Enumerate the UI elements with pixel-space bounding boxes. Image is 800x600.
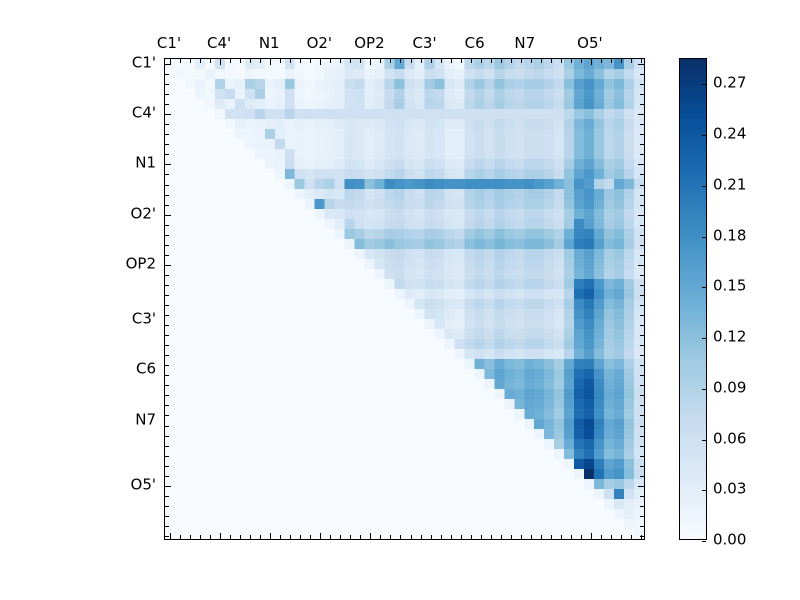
y-tick [165,74,169,75]
colorbar-tick-label: 0.21 [713,177,746,192]
y-tick [640,104,644,105]
x-tick [561,59,562,63]
x-tick [591,59,592,65]
y-tick [165,365,169,366]
x-tick [230,59,231,63]
y-tick [640,174,644,175]
colorbar-tick [702,237,706,238]
x-tick [280,535,281,539]
y-tick [165,275,169,276]
x-tick [431,59,432,63]
x-tick [220,59,221,65]
x-tick [421,535,422,539]
x-tick [310,535,311,539]
y-tick [165,124,169,125]
y-tick [165,355,169,356]
y-tick [640,315,644,316]
x-tick [400,535,401,539]
x-tick [621,535,622,539]
y-tick [165,225,169,226]
x-tick [491,535,492,539]
x-tick [581,59,582,63]
x-tick [200,535,201,539]
x-tick [230,535,231,539]
x-tick-label: C4' [207,36,231,51]
y-tick [640,476,644,477]
x-tick [551,59,552,63]
y-tick [165,255,169,256]
y-tick [165,235,169,236]
heatmap-plot-area[interactable] [164,58,645,540]
x-tick [340,59,341,63]
x-tick [360,535,361,539]
y-tick [640,385,644,386]
colorbar-tick [702,135,706,136]
y-tick [640,74,644,75]
y-tick [165,436,169,437]
x-tick [471,59,472,63]
y-tick [640,205,644,206]
x-tick [370,59,371,65]
x-tick [501,59,502,63]
x-tick [471,535,472,539]
x-tick [300,59,301,63]
x-tick-label: O5' [577,36,602,51]
x-tick [280,59,281,63]
y-tick [165,265,171,266]
x-tick [350,59,351,63]
colorbar-tick [702,84,706,85]
y-tick [640,235,644,236]
y-tick [638,486,644,487]
x-tick [390,59,391,63]
x-tick [531,59,532,63]
y-tick-label: O2' [106,206,156,221]
heatmap-image [165,59,644,539]
x-tick [340,535,341,539]
y-tick [165,285,169,286]
y-tick-label: C1' [106,56,156,71]
y-tick [640,365,644,366]
y-tick [640,195,644,196]
x-tick [541,535,542,539]
x-tick [441,535,442,539]
y-tick [640,426,644,427]
y-tick [165,144,169,145]
x-tick [531,535,532,539]
y-tick [640,225,644,226]
x-tick [501,535,502,539]
colorbar-tick-label: 0.24 [713,127,746,142]
y-tick [165,134,169,135]
y-tick [165,516,169,517]
x-tick [581,535,582,539]
x-tick-label: C6 [465,36,485,51]
y-tick-label: N7 [106,412,156,427]
colorbar-tick-label: 0.00 [713,533,746,548]
colorbar-tick-label: 0.15 [713,279,746,294]
y-tick [640,456,644,457]
y-tick [640,84,644,85]
y-tick [165,94,169,95]
y-tick [640,506,644,507]
y-tick [165,526,169,527]
colorbar-gradient [680,59,706,539]
y-tick [640,154,644,155]
x-tick [451,535,452,539]
y-tick [640,325,644,326]
y-tick [640,275,644,276]
x-tick [330,59,331,63]
x-tick [521,59,522,63]
x-tick [240,59,241,63]
x-tick [370,533,371,539]
x-tick [641,59,642,63]
x-tick [511,535,512,539]
colorbar[interactable] [679,58,707,540]
colorbar-tick-label: 0.09 [713,380,746,395]
x-tick-label: C1' [157,36,181,51]
y-tick [165,385,169,386]
x-tick [210,535,211,539]
x-tick [571,535,572,539]
y-tick [165,536,169,537]
x-tick [380,59,381,63]
y-tick [165,456,169,457]
colorbar-tick [702,440,706,441]
y-tick-label: C4' [106,106,156,121]
y-tick [165,174,169,175]
figure-canvas: C1'C4'N1O2'OP2C3'C6N7O5' C1'C4'N1O2'OP2C… [0,0,800,600]
x-tick [270,59,271,65]
y-tick [165,446,169,447]
y-tick [165,415,169,416]
x-tick [330,535,331,539]
x-tick [431,535,432,539]
x-tick [270,533,271,539]
y-tick [165,506,169,507]
y-tick [165,496,169,497]
y-tick [165,295,169,296]
colorbar-tick [702,389,706,390]
y-tick-label: O5' [106,477,156,492]
y-tick [165,335,169,336]
y-tick [165,245,169,246]
y-tick [165,395,169,396]
y-tick [165,466,169,467]
x-tick [180,535,181,539]
x-tick [561,535,562,539]
y-tick [638,215,644,216]
colorbar-tick [702,338,706,339]
y-tick [640,285,644,286]
x-tick [411,59,412,63]
x-tick [631,535,632,539]
y-tick [640,446,644,447]
x-tick [350,535,351,539]
x-tick [390,535,391,539]
y-tick [165,84,169,85]
y-tick [640,415,644,416]
y-tick [165,476,169,477]
x-tick [220,533,221,539]
y-tick [165,305,169,306]
x-tick [521,535,522,539]
x-tick [310,59,311,63]
x-tick [260,535,261,539]
x-tick [190,59,191,63]
x-tick-label: OP2 [354,36,384,51]
y-tick [640,124,644,125]
y-tick-label: C3' [106,312,156,327]
x-tick [441,59,442,63]
y-tick [165,345,169,346]
y-tick [165,405,169,406]
y-tick [640,185,644,186]
colorbar-tick-label: 0.06 [713,431,746,446]
x-tick [451,59,452,63]
x-tick [491,59,492,63]
y-tick [640,305,644,306]
x-tick [621,59,622,63]
x-tick [180,59,181,63]
x-tick [210,59,211,63]
colorbar-tick [702,287,706,288]
x-tick [380,535,381,539]
y-tick [640,516,644,517]
y-tick-label: C6 [106,362,156,377]
x-tick-label: C3' [412,36,436,51]
x-tick [601,59,602,63]
y-tick [640,466,644,467]
x-tick [260,59,261,63]
x-tick [360,59,361,63]
x-tick [571,59,572,63]
x-tick [320,533,321,539]
x-tick [290,535,291,539]
colorbar-tick-label: 0.12 [713,330,746,345]
colorbar-tick-label: 0.18 [713,228,746,243]
y-tick [165,486,171,487]
y-tick [165,195,169,196]
x-tick [200,59,201,63]
y-tick-label: N1 [106,156,156,171]
colorbar-tick-label: 0.03 [713,482,746,497]
y-tick [165,315,169,316]
x-tick [611,535,612,539]
x-tick [611,59,612,63]
x-tick-label: N7 [514,36,535,51]
x-tick [320,59,321,65]
y-tick [640,405,644,406]
y-tick [640,245,644,246]
x-tick [240,535,241,539]
x-tick-label: O2' [307,36,332,51]
y-tick [640,94,644,95]
y-tick [640,295,644,296]
x-tick [541,59,542,63]
y-tick [640,144,644,145]
y-tick [638,64,644,65]
y-tick [640,496,644,497]
y-tick [165,185,169,186]
x-tick-label: N1 [259,36,280,51]
x-tick [481,59,482,63]
x-tick [461,535,462,539]
y-tick [165,325,169,326]
y-tick [165,426,169,427]
y-tick [638,164,644,165]
x-tick [551,535,552,539]
colorbar-tick [702,490,706,491]
x-tick [601,535,602,539]
x-tick [400,59,401,63]
y-tick [640,255,644,256]
colorbar-tick [702,541,706,542]
x-tick [411,535,412,539]
y-tick [640,134,644,135]
y-tick [640,526,644,527]
y-tick [640,536,644,537]
x-tick [250,59,251,63]
y-tick [640,335,644,336]
y-tick [640,395,644,396]
x-tick [461,59,462,63]
y-tick [165,375,169,376]
y-tick [165,164,171,165]
colorbar-tick [702,186,706,187]
y-tick [638,114,644,115]
y-tick [165,215,171,216]
x-tick [511,59,512,63]
colorbar-tick-label: 0.27 [713,76,746,91]
x-tick [250,535,251,539]
y-tick [640,375,644,376]
y-tick [640,345,644,346]
x-tick [300,535,301,539]
x-tick [631,59,632,63]
x-tick [190,535,191,539]
y-tick [640,355,644,356]
y-tick-label: OP2 [106,256,156,271]
x-tick [421,59,422,63]
y-tick [165,205,169,206]
y-tick [638,265,644,266]
x-tick [591,533,592,539]
y-tick [640,436,644,437]
x-tick [290,59,291,63]
y-tick [165,104,169,105]
x-tick [170,533,171,539]
y-tick [165,154,169,155]
y-tick [165,114,171,115]
y-tick [165,64,171,65]
x-tick [481,535,482,539]
